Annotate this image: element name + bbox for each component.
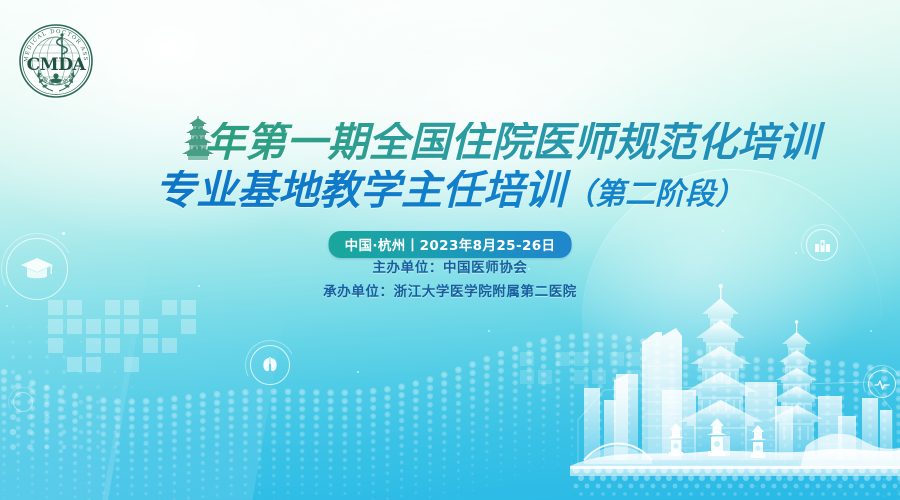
- pagoda-icon: [176, 114, 220, 160]
- organizer-value: 中国医师协会: [443, 260, 528, 276]
- organizer-label: 主办单位：: [372, 260, 443, 276]
- organizers-block: 主办单位：中国医师协会 承办单位：浙江大学医学院附属第二医院: [0, 262, 900, 309]
- pulse-icon: [868, 370, 896, 398]
- conference-poster: CMDA CHINESE MEDICAL: [0, 0, 900, 500]
- organizer-label: 承办单位：: [323, 284, 394, 300]
- cmda-acronym: CMDA: [27, 55, 87, 75]
- title-line-2-main: 专业基地教学主任培训: [155, 166, 565, 214]
- title-line-1: 2023: [0, 122, 900, 163]
- hospital-icon: [806, 229, 838, 261]
- cmda-logo: CMDA CHINESE MEDICAL: [17, 22, 95, 100]
- organizer-value: 浙江大学医学院附属第二医院: [394, 284, 577, 300]
- date-location-badge: 中国·杭州丨2023年8月25-26日: [329, 231, 572, 258]
- organ-icon: [250, 345, 290, 385]
- organizer-row: 承办单位：浙江大学医学院附属第二医院: [0, 286, 900, 300]
- dot-circle-icon: [13, 392, 33, 412]
- title-line-2: 专业基地教学主任培训（第二阶段）: [0, 170, 900, 211]
- title-year: 2023: [81, 118, 204, 166]
- headline-block: 2023: [0, 122, 900, 211]
- title-line-2-stage: （第二阶段）: [565, 177, 745, 212]
- organizer-row: 主办单位：中国医师协会: [0, 262, 900, 276]
- title-line-1-text: 年第一期全国住院医师规范化培训: [204, 118, 819, 166]
- mosaic-squares-left: [48, 300, 196, 372]
